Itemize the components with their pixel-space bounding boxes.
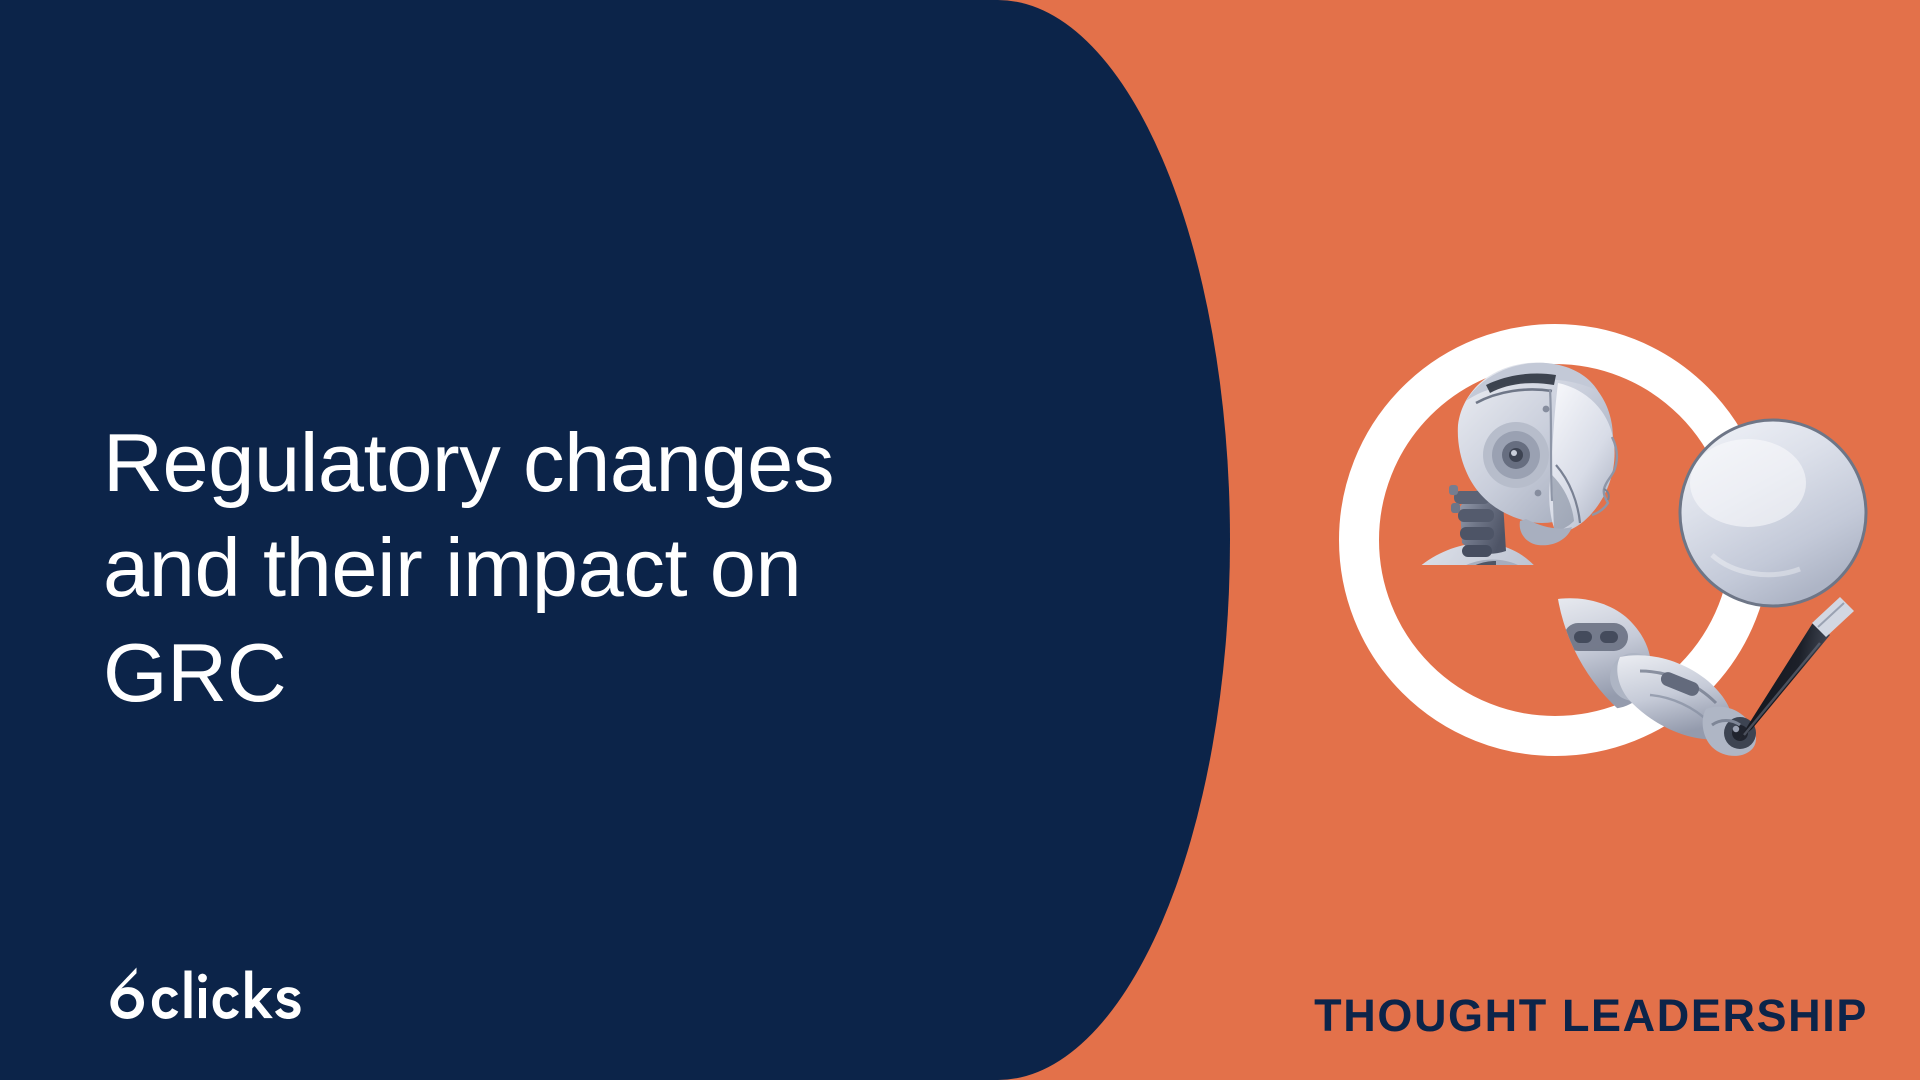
magnifier-highlight <box>1690 439 1806 527</box>
logo-letter-k <box>245 971 273 1019</box>
logo-letter-c <box>152 987 178 1019</box>
magnifier-handle <box>1738 621 1830 741</box>
page-title: Regulatory changes and their impact on G… <box>103 411 1063 726</box>
category-label: THOUGHT LEADERSHIP <box>1314 993 1868 1038</box>
slide-canvas: Regulatory changes and their impact on G… <box>0 0 1920 1080</box>
logo-six-mark <box>110 968 144 1020</box>
logo-letter-i-dot <box>198 974 207 983</box>
logo-letter-c2 <box>213 987 239 1019</box>
hero-artwork <box>1320 305 1920 785</box>
logo-letter-l <box>185 971 192 1019</box>
brand-logo <box>103 966 307 1020</box>
logo-letter-s <box>275 987 301 1019</box>
logo-letter-i-stem <box>199 988 206 1018</box>
